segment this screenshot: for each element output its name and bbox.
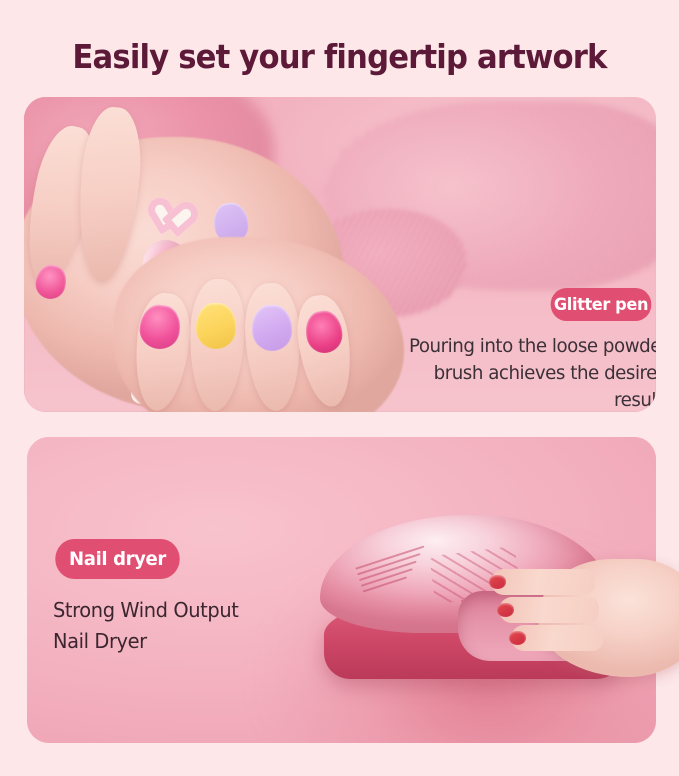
badge-nail-dryer: Nail dryer (55, 539, 179, 579)
hand-nail-painted (497, 603, 514, 617)
page-title: Easily set your fingertip artwork (24, 36, 655, 78)
nail-dryer-hand (485, 555, 679, 680)
hand-finger (499, 597, 599, 623)
nail-dryer-caption: Strong Wind Output Nail Dryer (53, 595, 344, 657)
caption-line: Nail Dryer (53, 626, 344, 657)
pen-heart-top-icon (145, 191, 202, 244)
caption-line: Strong Wind Output (53, 595, 344, 626)
badge-glitter-pen: Glitter pen (551, 288, 652, 321)
product-feature-page: Easily set your fingertip artwork (0, 0, 679, 776)
hand-finger (491, 569, 595, 595)
hand-nail-painted (509, 631, 526, 645)
dryer-vent-lines (355, 544, 438, 597)
glitter-pen-photo-panel: Glitter pen Pouring into the loose powde… (24, 97, 656, 412)
caption-line: Pouring into the loose powder (380, 333, 656, 360)
hand-nail-painted (489, 575, 506, 589)
photo-nail-yellow (196, 303, 236, 349)
glitter-pen-caption: Pouring into the loose powder brush achi… (380, 333, 656, 412)
caption-line: brush achieves the desired result. (380, 360, 656, 412)
